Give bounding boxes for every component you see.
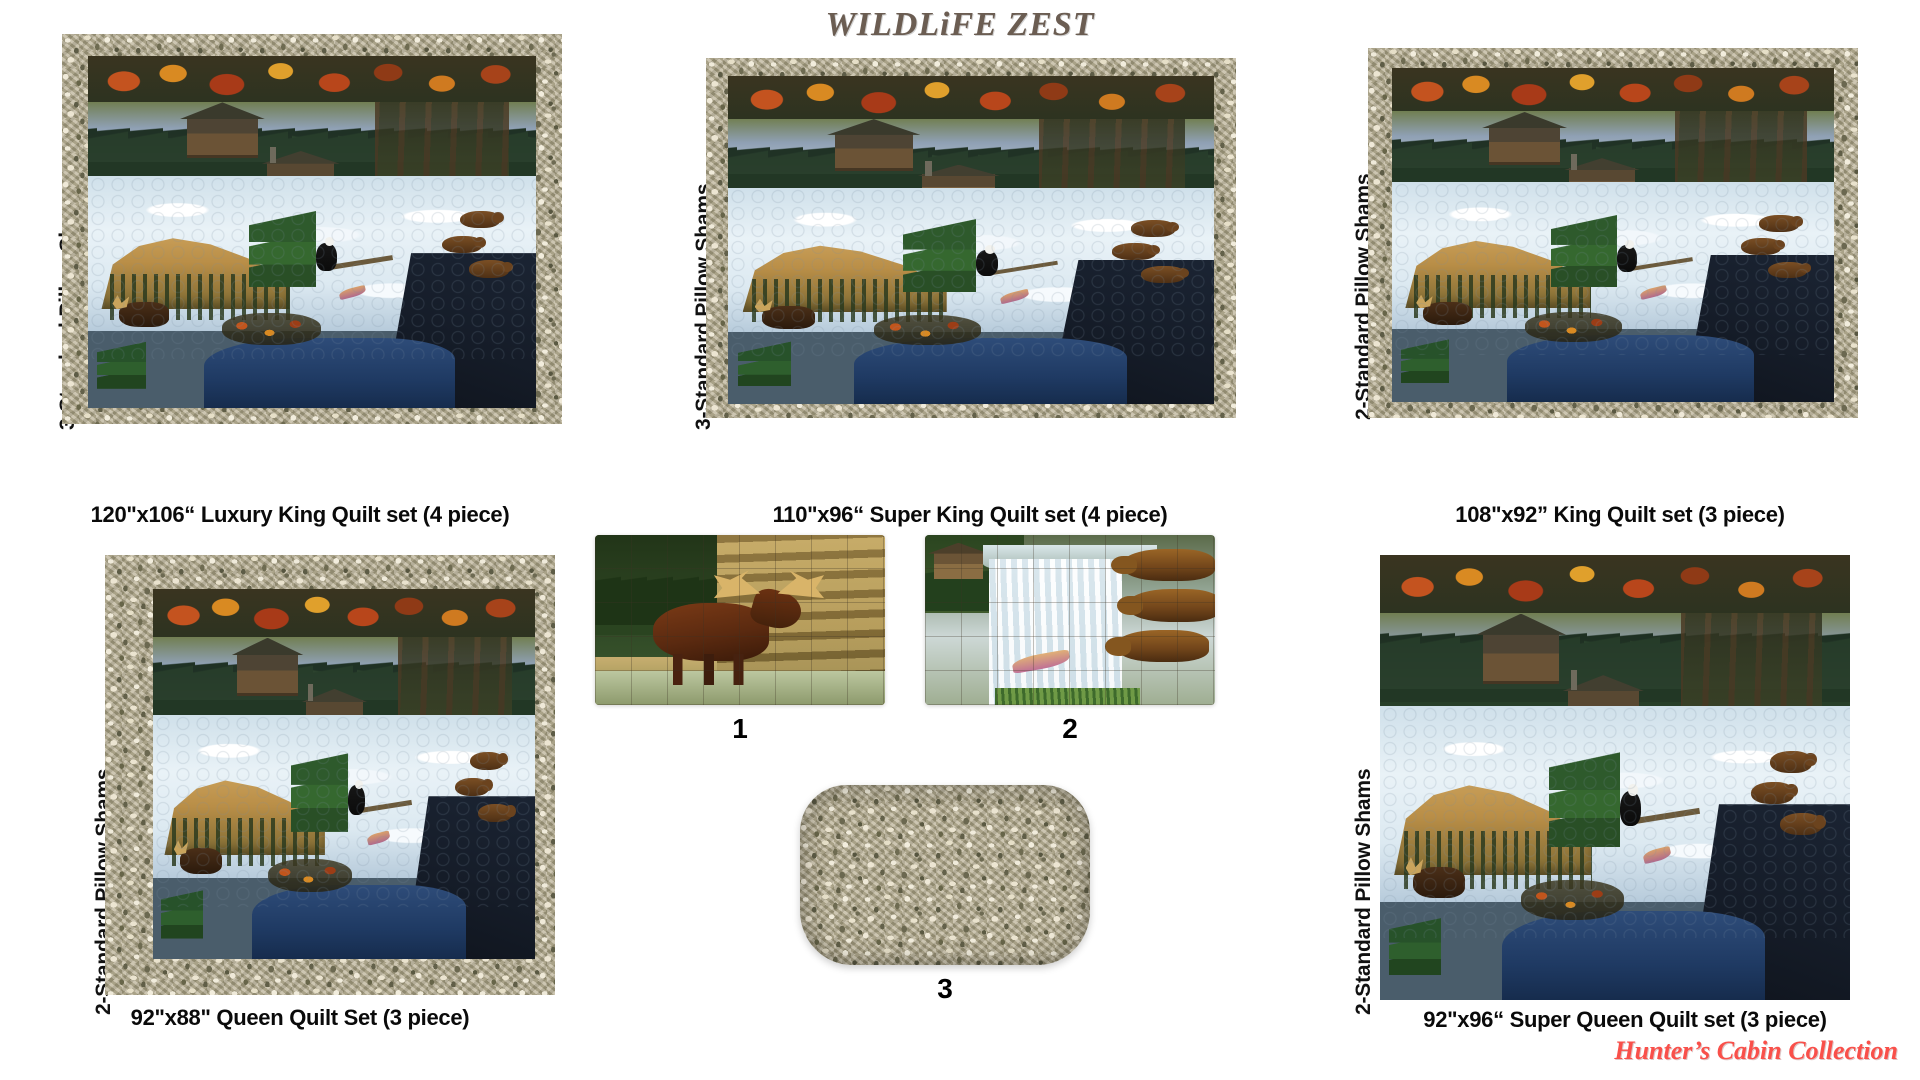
product-queen[interactable]: 2-Standard Pillow Shams 92"x88" Queen Qu… xyxy=(20,545,580,1055)
quilt-image-luxury-king xyxy=(62,34,562,424)
caption-super-queen: 92"x96“ Super Queen Quilt set (3 piece) xyxy=(1330,1007,1920,1033)
quilt-scene-panel xyxy=(728,76,1214,404)
accessory-number-1: 1 xyxy=(595,713,885,745)
wilderness-scene-art xyxy=(88,56,536,408)
moose-sham-image xyxy=(595,535,885,705)
collection-signature: Hunter’s Cabin Collection xyxy=(1614,1036,1898,1066)
quilt-scene-panel xyxy=(1392,68,1834,402)
accessory-number-3: 3 xyxy=(800,973,1090,1005)
quilt-scene-panel xyxy=(88,56,536,408)
stone-pillow-image xyxy=(800,785,1090,965)
accessory-moose-sham[interactable]: 1 xyxy=(595,535,885,670)
wilderness-scene-art xyxy=(1380,555,1850,1000)
product-king[interactable]: 2-Standard Pillow Shams 108"x92” King Qu… xyxy=(1330,30,1910,510)
caption-king: 108"x92” King Quilt set (3 piece) xyxy=(1330,502,1910,528)
product-super-king[interactable]: 3-Standard Pillow Shams 110"x96“ Super K… xyxy=(670,30,1270,510)
caption-super-king: 110"x96“ Super King Quilt set (4 piece) xyxy=(670,502,1270,528)
accessory-bear-sham[interactable]: 2 xyxy=(925,535,1215,670)
catalog-page: WILDLiFE ZEST 3-Standard Pillow Shams xyxy=(0,0,1920,1080)
quilt-scene-panel xyxy=(153,589,535,959)
caption-luxury-king: 120"x106“ Luxury King Quilt set (4 piece… xyxy=(20,502,580,528)
caption-queen: 92"x88" Queen Quilt Set (3 piece) xyxy=(20,1005,580,1031)
product-super-queen[interactable]: 2-Standard Pillow Shams 92"x96“ Super Qu… xyxy=(1330,545,1920,1055)
accessory-number-2: 2 xyxy=(925,713,1215,745)
quilt-image-queen xyxy=(105,555,555,995)
bear-sham-image xyxy=(925,535,1215,705)
quilt-scene-panel xyxy=(1380,555,1850,1000)
accessory-stone-pillow[interactable]: 3 xyxy=(800,785,1090,965)
wilderness-scene-art xyxy=(153,589,535,959)
bears-waterfall-artwork xyxy=(925,535,1215,705)
quilt-image-super-king xyxy=(706,58,1236,418)
sham-label-super-queen: 2-Standard Pillow Shams xyxy=(1352,769,1376,1015)
wilderness-scene-art xyxy=(1392,68,1834,402)
quilt-image-super-queen xyxy=(1380,555,1850,1000)
quilt-image-king xyxy=(1368,48,1858,418)
wilderness-scene-art xyxy=(728,76,1214,404)
product-luxury-king[interactable]: 3-Standard Pillow Shams 120"x106“ Luxury… xyxy=(20,30,580,510)
moose-artwork xyxy=(595,535,885,705)
